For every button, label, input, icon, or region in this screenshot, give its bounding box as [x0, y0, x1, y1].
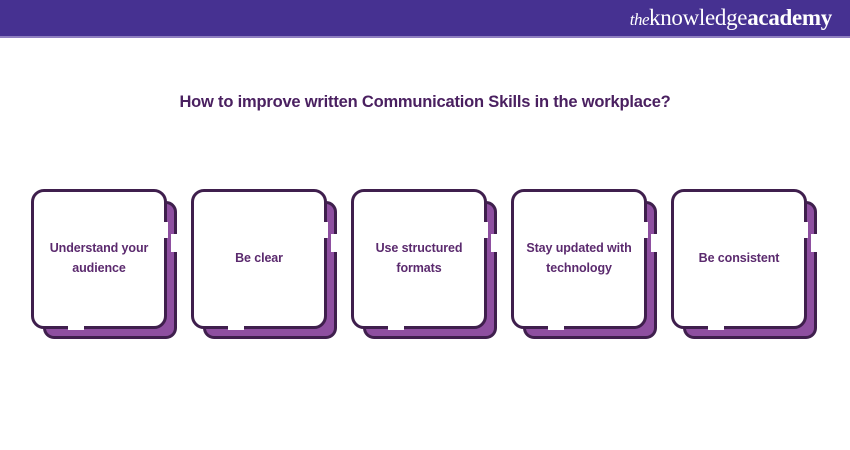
brand-logo: theknowledgeacademy	[630, 5, 832, 31]
page-title: How to improve written Communication Ski…	[0, 93, 850, 112]
card-label: Be consistent	[671, 189, 807, 329]
card-shadow-notch	[331, 234, 337, 252]
card-use-structured-formats[interactable]: Use structured formats	[351, 189, 499, 341]
header-underline	[0, 36, 850, 38]
card-be-clear[interactable]: Be clear	[191, 189, 339, 341]
infographic-page: theknowledgeacademy How to improve writt…	[0, 0, 850, 450]
card-shadow-notch	[171, 234, 177, 252]
cards-row: Understand your audience Be clear Use st…	[31, 189, 831, 341]
card-label: Understand your audience	[31, 189, 167, 329]
card-shadow-notch	[491, 234, 497, 252]
logo-academy-text: academy	[747, 5, 832, 30]
card-shadow-notch	[811, 234, 817, 252]
card-understand-your-audience[interactable]: Understand your audience	[31, 189, 179, 341]
card-stay-updated-with-technology[interactable]: Stay updated with technology	[511, 189, 659, 341]
logo-knowledge-text: knowledge	[649, 5, 747, 30]
card-label: Use structured formats	[351, 189, 487, 329]
card-label: Be clear	[191, 189, 327, 329]
card-shadow-notch	[651, 234, 657, 252]
card-label: Stay updated with technology	[511, 189, 647, 329]
header-bar: theknowledgeacademy	[0, 0, 850, 36]
card-be-consistent[interactable]: Be consistent	[671, 189, 819, 341]
logo-the-text: the	[630, 10, 649, 29]
